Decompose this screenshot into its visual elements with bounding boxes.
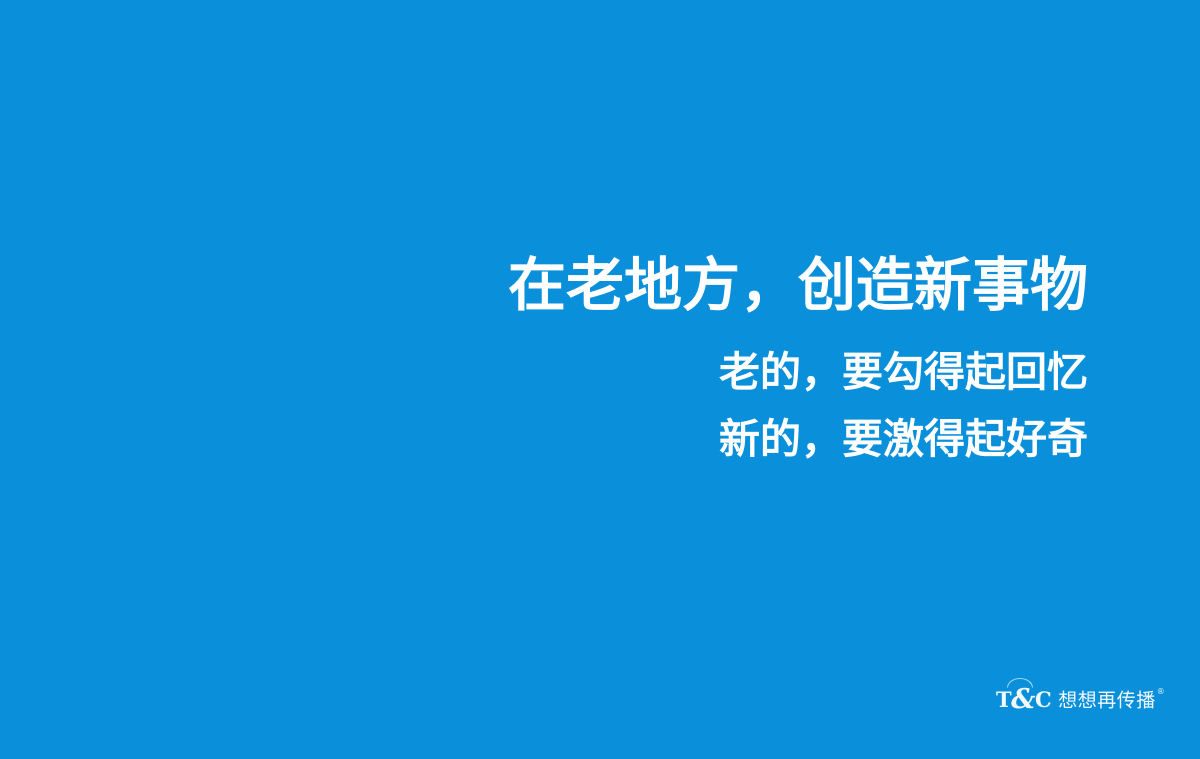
slide-canvas: 在老地方，创造新事物 老的，要勾得起回忆 新的，要激得起好奇 T & C 想想再… [0, 0, 1200, 759]
slide-subline-2: 新的，要激得起好奇 [0, 414, 1088, 464]
brand-logo: T & C 想想再传播® [996, 682, 1164, 716]
slide-subline-1: 老的，要勾得起回忆 [0, 347, 1088, 397]
logo-ampersand-icon: & [1011, 688, 1035, 711]
slide-headline: 在老地方，创造新事物 [0, 252, 1088, 318]
logo-chinese-name: 想想再传播® [1058, 687, 1164, 710]
logo-letter-t: T [996, 688, 1011, 711]
registered-trademark-icon: ® [1157, 687, 1166, 696]
logo-letter-c: C [1035, 688, 1051, 711]
logo-chinese-text: 想想再传播 [1058, 690, 1156, 712]
logo-wordmark: T & C [996, 687, 1051, 711]
